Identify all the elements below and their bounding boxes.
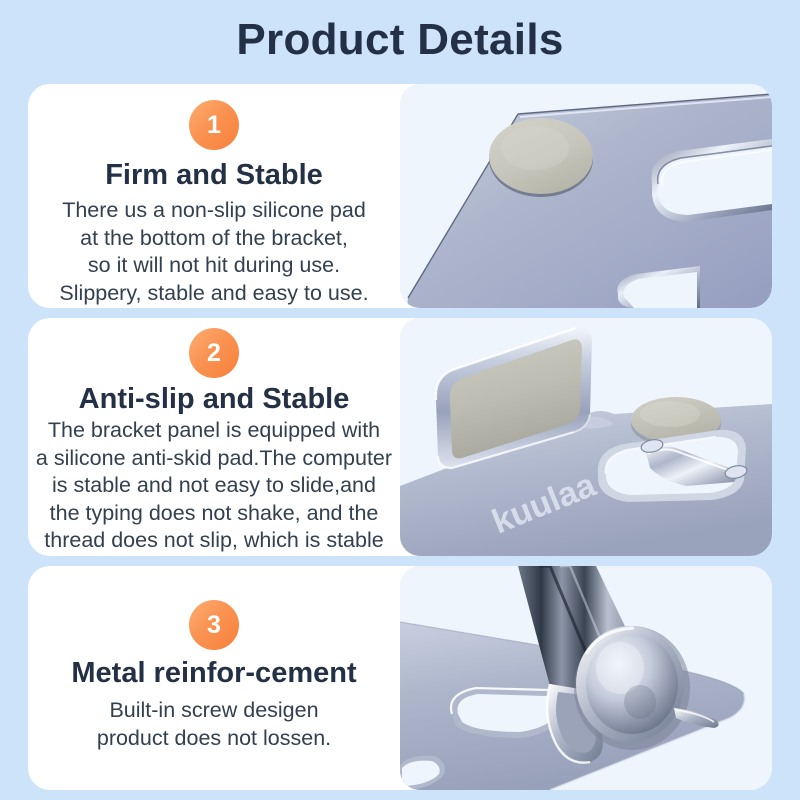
product-photo-1 [400, 84, 772, 308]
stand-base-corner-illustration [400, 84, 772, 308]
feature-card-1-body: There us a non-slip silicone pad at the … [34, 197, 394, 307]
feature-card-3-text: 3 Metal reinfor-cement Built-in screw de… [28, 566, 400, 790]
product-details-page: Product Details 1 Firm and Stable There … [0, 0, 800, 800]
feature-card-1-text: 1 Firm and Stable There us a non-slip si… [28, 84, 400, 308]
feature-card-3-body: Built-in screw desigen product does not … [34, 697, 394, 752]
step-number-badge-3: 3 [189, 600, 239, 650]
step-number-badge-2: 2 [189, 328, 239, 378]
feature-card-2-heading: Anti-slip and Stable [34, 384, 394, 415]
product-photo-3 [400, 566, 772, 790]
step-number-badge-1: 1 [189, 100, 239, 150]
feature-card-3: 3 Metal reinfor-cement Built-in screw de… [28, 566, 772, 790]
feature-card-3-heading: Metal reinfor-cement [34, 658, 394, 689]
hinge-pivot-joint-illustration [400, 566, 772, 790]
feature-card-2-text: 2 Anti-slip and Stable The bracket panel… [28, 318, 400, 556]
feature-card-2: 2 Anti-slip and Stable The bracket panel… [28, 318, 772, 556]
bracket-panel-lip-and-hinge-illustration: kuulaa [400, 318, 772, 556]
feature-card-1-heading: Firm and Stable [34, 160, 394, 191]
page-title: Product Details [0, 8, 800, 72]
product-photo-2: kuulaa [400, 318, 772, 556]
feature-card-2-body: The bracket panel is equipped with a sil… [34, 417, 394, 556]
feature-card-1: 1 Firm and Stable There us a non-slip si… [28, 84, 772, 308]
